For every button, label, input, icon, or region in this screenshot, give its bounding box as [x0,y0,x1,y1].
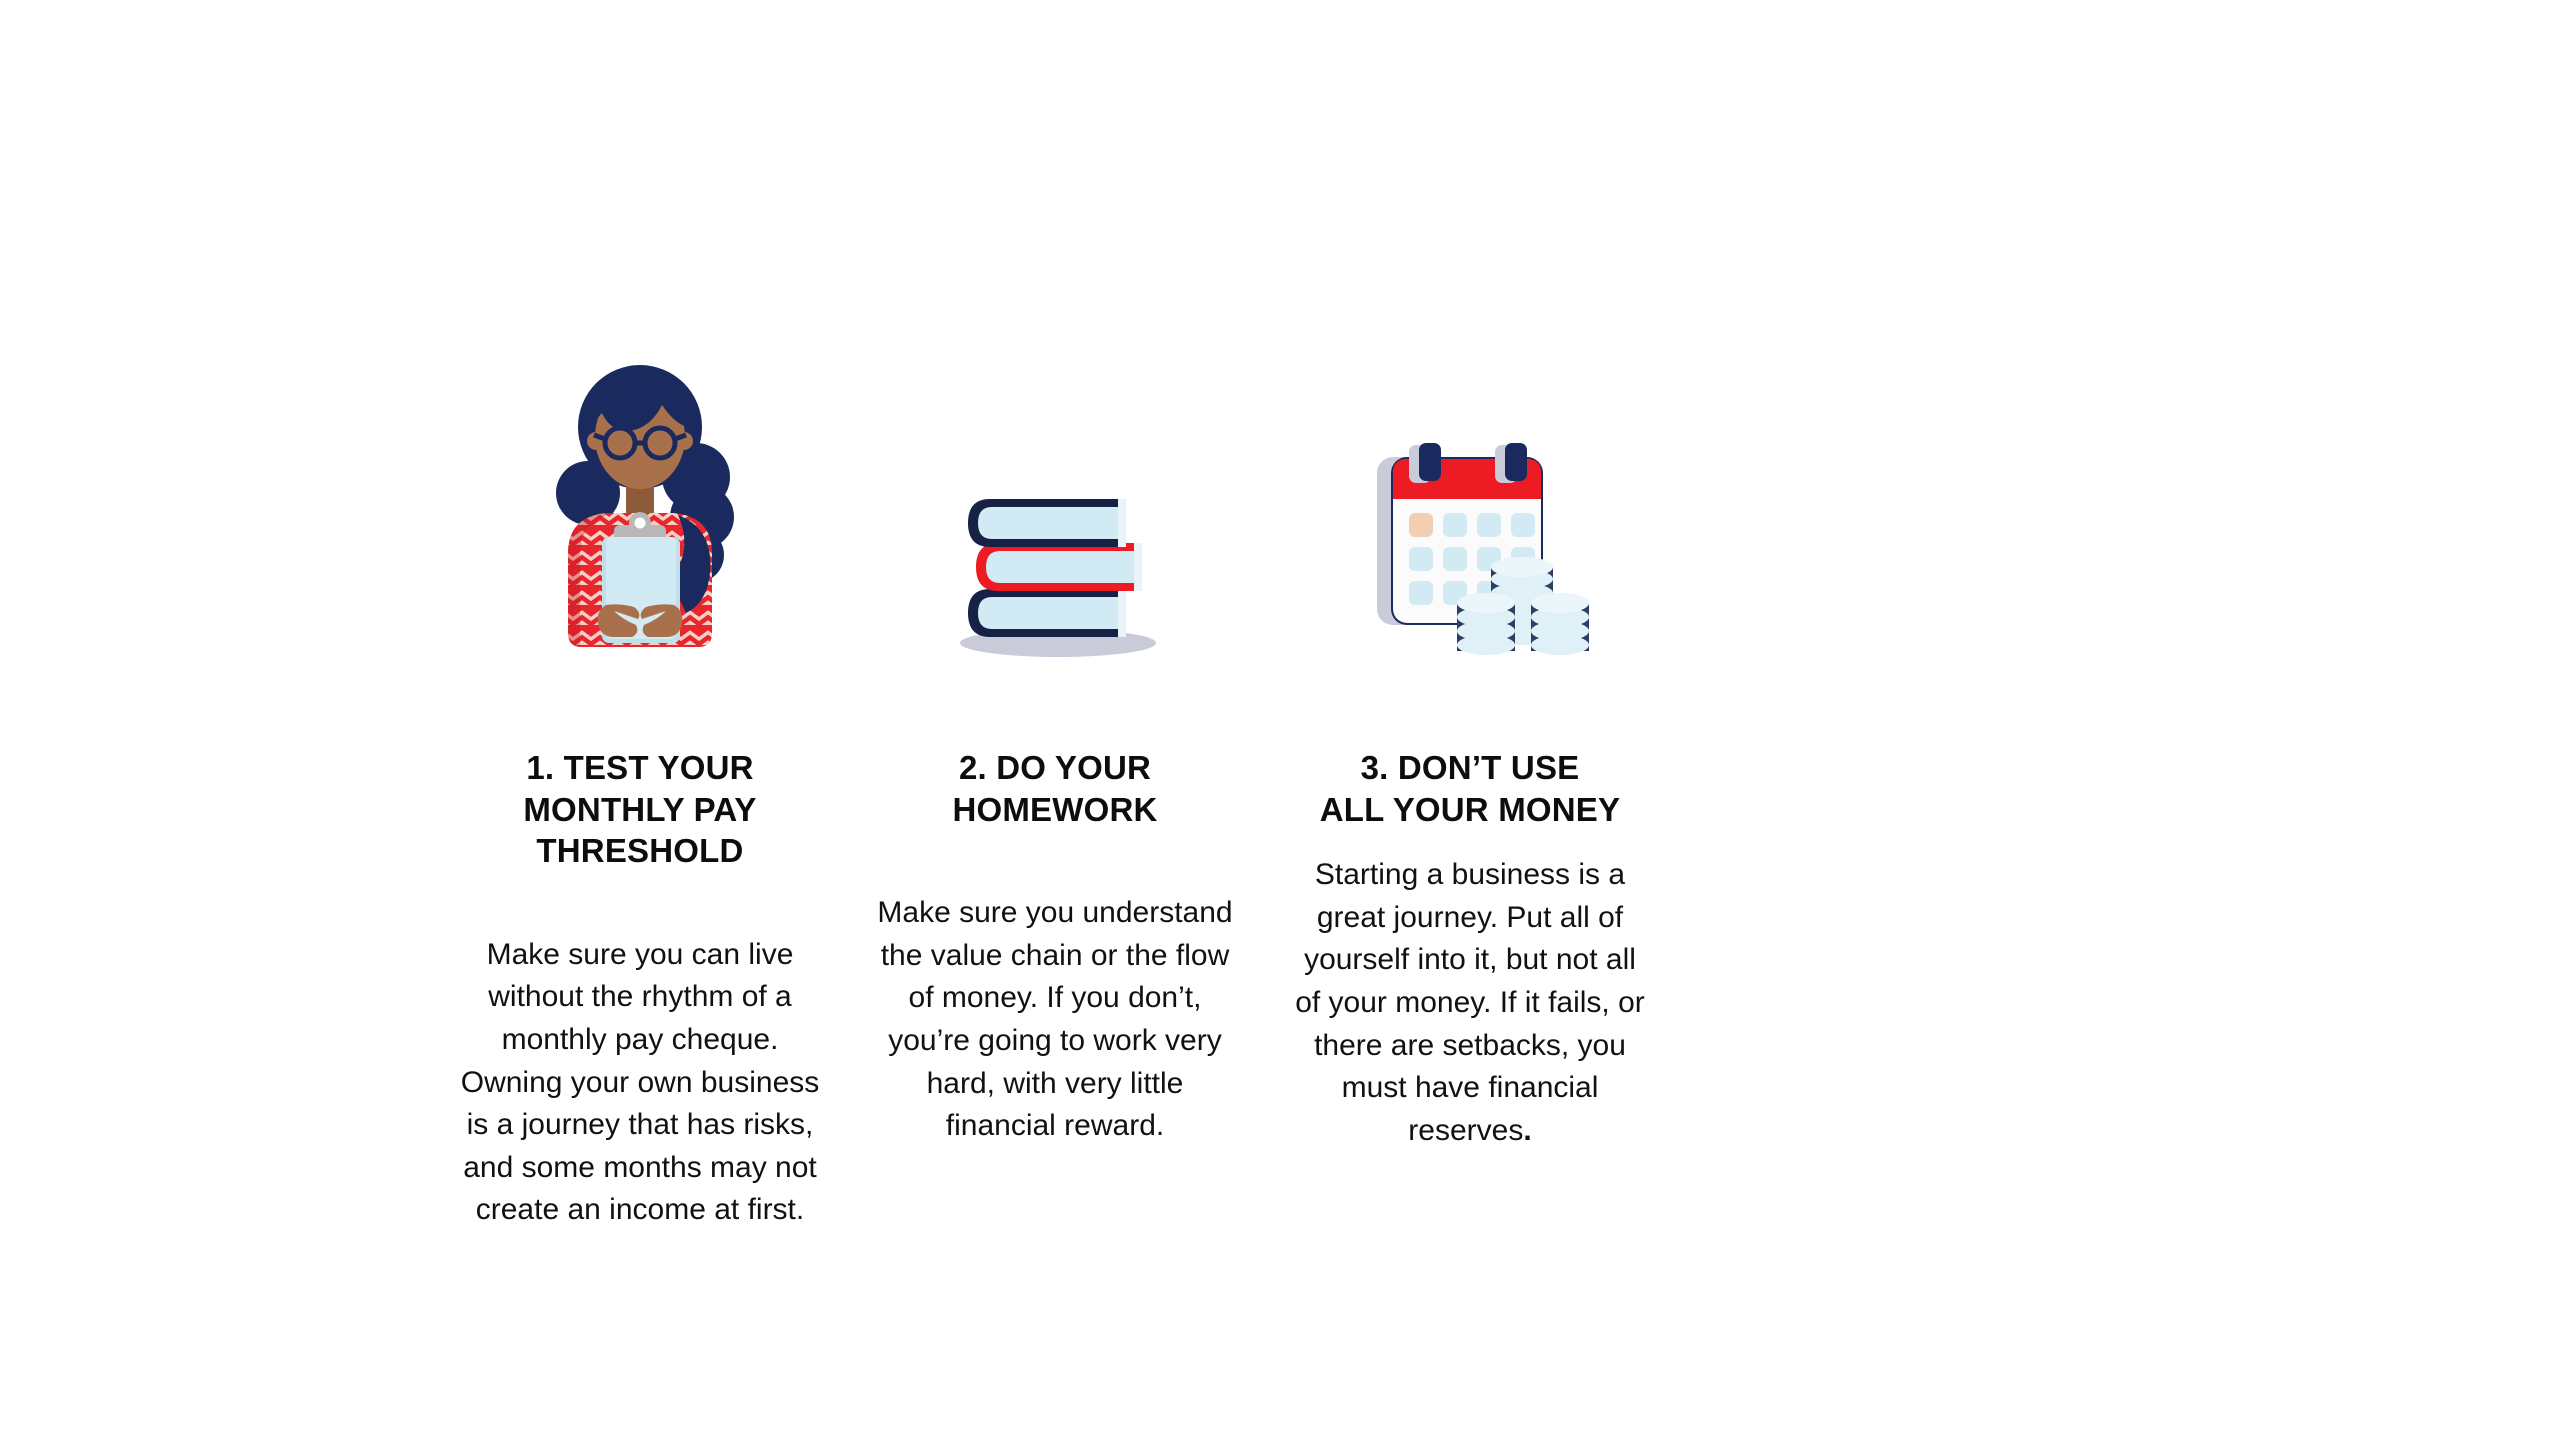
tip-column-2: 2. DO YOUR HOMEWORK Make sure you unders… [860,355,1250,1148]
tip-column-1: 1. TEST YOUR MONTHLY PAY THRESHOLD Make … [440,355,840,1232]
tip-heading-3: 3. DON’T USE ALL YOUR MONEY [1320,747,1620,830]
tip-body-3: Starting a business is a great journey. … [1279,854,1661,1152]
stack-of-books-icon [930,485,1180,665]
calendar-with-coins-illustration [1270,355,1670,665]
tip-column-3: 3. DON’T USE ALL YOUR MONEY Starting a b… [1270,355,1670,1152]
tip-heading-2: 2. DO YOUR HOMEWORK [952,747,1157,830]
coin-stack-right [1531,593,1589,655]
stack-of-books-illustration [860,355,1250,665]
coin-stack-left [1457,593,1515,655]
tips-columns: 1. TEST YOUR MONTHLY PAY THRESHOLD Make … [440,355,1690,1232]
woman-with-clipboard-illustration [440,355,840,665]
tip-body-2: Make sure you understand the value chain… [869,892,1241,1148]
tip-body-1: Make sure you can live without the rhyth… [449,934,831,1232]
tip-heading-1: 1. TEST YOUR MONTHLY PAY THRESHOLD [523,747,756,872]
woman-with-clipboard-icon [510,365,770,665]
calendar-with-coins-icon [1345,435,1595,665]
infographic-root: 1. TEST YOUR MONTHLY PAY THRESHOLD Make … [0,0,2560,1440]
tip-body-3-main: Starting a business is a great journey. … [1295,858,1645,1147]
tip-body-3-period: . [1523,1114,1531,1147]
